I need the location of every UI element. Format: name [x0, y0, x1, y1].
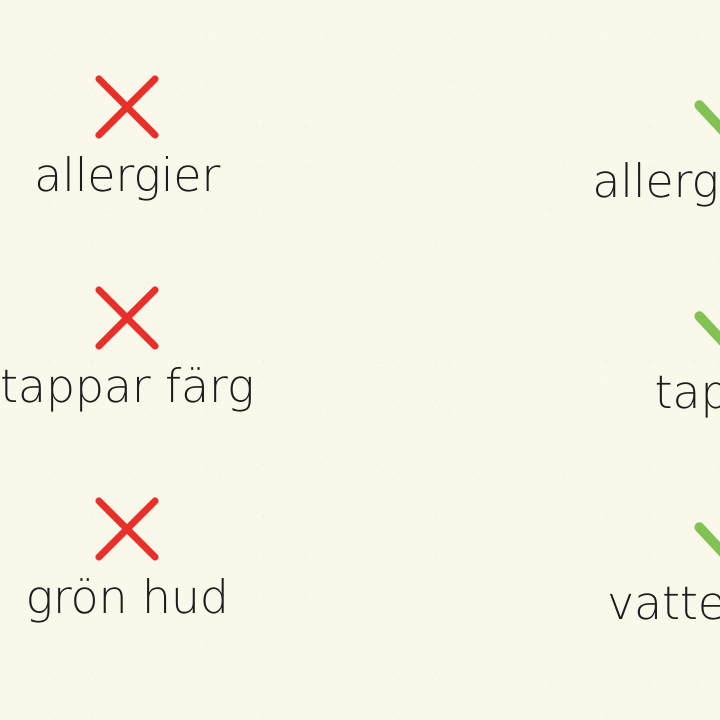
comparison-label-positive-3: vattentålig	[607, 580, 720, 626]
comparison-cell-negative-3: grön hud	[0, 449, 424, 660]
check-icon	[685, 273, 720, 363]
cross-icon	[88, 279, 166, 357]
cross-icon	[88, 490, 166, 568]
comparison-poster: allergier allergivänlig tappar färg tapp…	[0, 0, 720, 720]
comparison-label-negative-2: tappar färg	[0, 363, 254, 409]
comparison-cell-negative-1: allergier	[0, 28, 424, 239]
comparison-grid: allergier allergivänlig tappar färg tapp…	[0, 0, 720, 720]
comparison-cell-positive-2: tappfri	[424, 239, 720, 450]
comparison-cell-negative-2: tappar färg	[0, 239, 424, 450]
comparison-label-positive-1: allergivänlig	[592, 158, 720, 204]
cross-icon	[88, 68, 166, 146]
comparison-label-negative-1: allergier	[34, 152, 220, 198]
check-icon	[685, 62, 720, 152]
comparison-label-positive-2: tappfri	[655, 369, 720, 415]
comparison-cell-positive-3: vattentålig	[424, 449, 720, 660]
comparison-cell-positive-1: allergivänlig	[424, 28, 720, 239]
check-icon	[685, 484, 720, 574]
comparison-label-negative-3: grön hud	[25, 574, 228, 620]
